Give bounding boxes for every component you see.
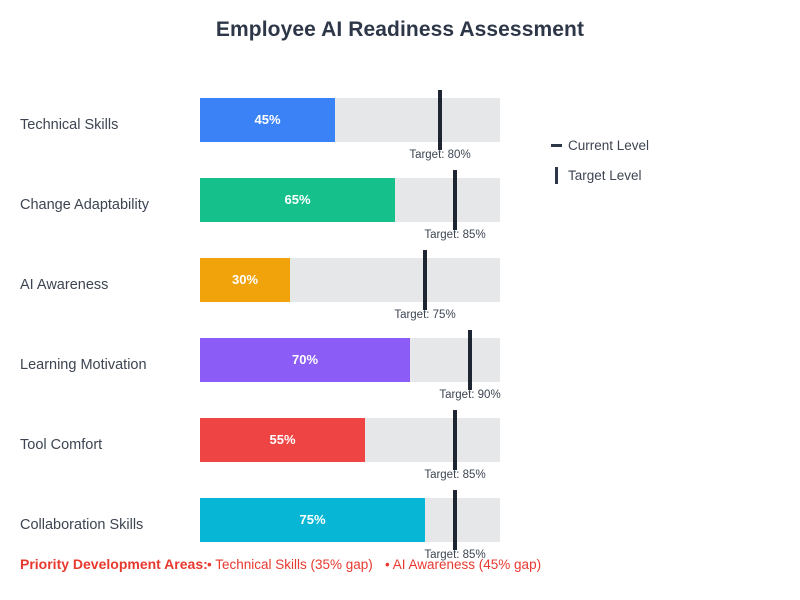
legend-label-current-level: Current Level	[568, 138, 649, 153]
target-value-label: Target: 85%	[424, 469, 485, 481]
bar-row: Collaboration Skills75%Target: 85%	[0, 487, 800, 567]
bar-row: Change Adaptability65%Target: 85%	[0, 167, 800, 247]
bar-row-label: Change Adaptability	[20, 197, 190, 213]
bar-row-label: Technical Skills	[20, 117, 190, 133]
bar-row: AI Awareness30%Target: 75%	[0, 247, 800, 327]
bar-value-label: 45%	[200, 98, 335, 142]
bar-row-label: Learning Motivation	[20, 357, 190, 373]
bar-value-label: 65%	[200, 178, 395, 222]
bullet-chart: Employee AI Readiness Assessment Technic…	[0, 0, 800, 600]
bar-value-label: 30%	[200, 258, 290, 302]
dash-icon	[551, 144, 562, 147]
bar-row: Technical Skills45%Target: 80%	[0, 87, 800, 167]
bar-track: 30%	[200, 258, 500, 302]
target-marker	[438, 90, 442, 150]
legend-item-current-level[interactable]: Current Level	[550, 135, 649, 155]
target-marker	[423, 250, 427, 310]
bar-row: Learning Motivation70%Target: 90%	[0, 327, 800, 407]
bar-row: Tool Comfort55%Target: 85%	[0, 407, 800, 487]
target-value-label: Target: 85%	[424, 229, 485, 241]
bar-value-label: 70%	[200, 338, 410, 382]
page-title: Employee AI Readiness Assessment	[0, 18, 800, 42]
bar-track: 70%	[200, 338, 500, 382]
target-marker	[453, 170, 457, 230]
target-marker	[453, 490, 457, 550]
vertical-bar-icon	[555, 167, 558, 184]
legend-item-target-level[interactable]: Target Level	[550, 165, 642, 185]
target-value-label: Target: 80%	[409, 149, 470, 161]
priority-area-note-1: • AI Awareness (45% gap)	[385, 557, 541, 572]
priority-area-note-0: • Technical Skills (35% gap)	[207, 557, 373, 572]
target-value-label: Target: 90%	[439, 389, 500, 401]
target-value-label: Target: 75%	[394, 309, 455, 321]
legend-label-target-level: Target Level	[568, 168, 642, 183]
bar-track: 45%	[200, 98, 500, 142]
bar-value-label: 75%	[200, 498, 425, 542]
bar-value-label: 55%	[200, 418, 365, 462]
priority-areas-heading: Priority Development Areas:	[20, 556, 208, 572]
bar-row-label: AI Awareness	[20, 277, 190, 293]
target-marker	[453, 410, 457, 470]
target-marker	[468, 330, 472, 390]
bar-row-label: Tool Comfort	[20, 437, 190, 453]
bar-row-label: Collaboration Skills	[20, 517, 190, 533]
